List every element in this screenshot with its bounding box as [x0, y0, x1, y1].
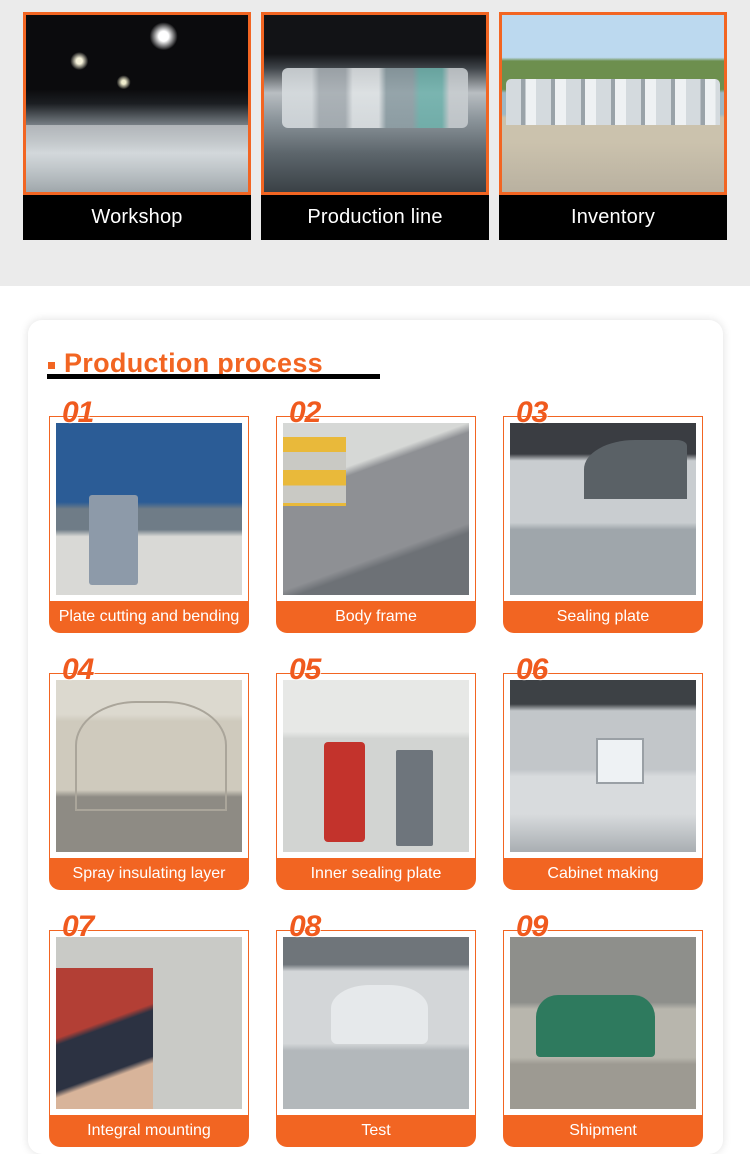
facility-label: Production line [261, 195, 489, 240]
facility-band: WorkshopProduction lineInventory [0, 0, 750, 286]
step-photo [56, 423, 242, 595]
facility-card-row: WorkshopProduction lineInventory [23, 12, 727, 240]
step-number: 09 [516, 912, 547, 942]
step-number: 06 [516, 655, 547, 685]
step-label: Test [276, 1115, 476, 1147]
workshop-photo [23, 12, 251, 195]
process-step[interactable]: 07Integral mounting [49, 912, 249, 1147]
step-photo [56, 680, 242, 852]
process-step[interactable]: 06Cabinet making [503, 655, 703, 890]
step-photo [510, 680, 696, 852]
step-photo-frame [49, 930, 249, 1116]
process-step[interactable]: 04Spray insulating layer [49, 655, 249, 890]
step-photo-frame [503, 673, 703, 859]
process-step[interactable]: 03Sealing plate [503, 398, 703, 633]
step-number: 01 [62, 398, 93, 428]
step-photo-frame [49, 673, 249, 859]
step-label: Cabinet making [503, 858, 703, 890]
facility-card[interactable]: Production line [261, 12, 489, 240]
step-photo [283, 423, 469, 595]
step-number: 04 [62, 655, 93, 685]
process-step[interactable]: 08Test [276, 912, 476, 1147]
step-photo [283, 680, 469, 852]
process-step[interactable]: 09Shipment [503, 912, 703, 1147]
step-label: Spray insulating layer [49, 858, 249, 890]
step-number: 05 [289, 655, 320, 685]
step-photo-frame [503, 930, 703, 1116]
step-number: 07 [62, 912, 93, 942]
step-photo-frame [276, 416, 476, 602]
title-underline [47, 374, 380, 379]
step-label: Plate cutting and bending [49, 601, 249, 633]
production-line-photo [261, 12, 489, 195]
process-step[interactable]: 05Inner sealing plate [276, 655, 476, 890]
step-photo [510, 423, 696, 595]
inventory-photo [499, 12, 727, 195]
process-step[interactable]: 02Body frame [276, 398, 476, 633]
production-process-card: Production process 01Plate cutting and b… [28, 320, 723, 1154]
facility-label: Inventory [499, 195, 727, 240]
step-photo-frame [49, 416, 249, 602]
step-photo-frame [276, 930, 476, 1116]
process-step-grid: 01Plate cutting and bending02Body frame0… [49, 398, 704, 1147]
step-label: Inner sealing plate [276, 858, 476, 890]
process-step[interactable]: 01Plate cutting and bending [49, 398, 249, 633]
facility-card[interactable]: Workshop [23, 12, 251, 240]
page-root: WorkshopProduction lineInventory Product… [0, 0, 750, 1154]
step-label: Shipment [503, 1115, 703, 1147]
step-label: Sealing plate [503, 601, 703, 633]
step-photo [283, 937, 469, 1109]
step-photo [510, 937, 696, 1109]
step-label: Integral mounting [49, 1115, 249, 1147]
facility-label: Workshop [23, 195, 251, 240]
step-photo-frame [503, 416, 703, 602]
step-number: 08 [289, 912, 320, 942]
page-title: Production process [64, 350, 323, 377]
step-photo [56, 937, 242, 1109]
step-number: 03 [516, 398, 547, 428]
step-number: 02 [289, 398, 320, 428]
step-label: Body frame [276, 601, 476, 633]
facility-card[interactable]: Inventory [499, 12, 727, 240]
square-bullet-icon [48, 362, 55, 369]
step-photo-frame [276, 673, 476, 859]
section-title-wrap: Production process [48, 350, 323, 377]
